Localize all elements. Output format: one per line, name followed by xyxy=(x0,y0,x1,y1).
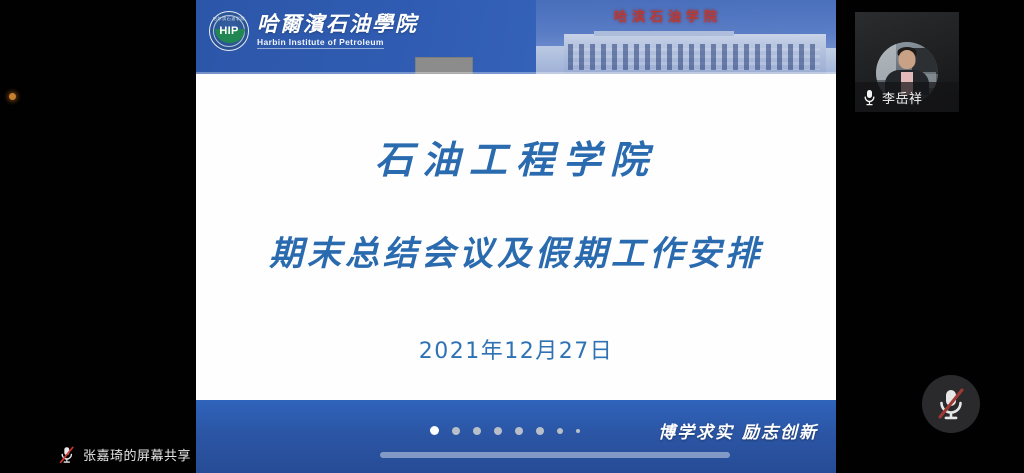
institution-logo: 哈尔滨石油学院 HIP 哈爾濱石油學院 Harbin Institute of … xyxy=(209,11,418,51)
mic-muted-icon xyxy=(936,387,966,421)
screen-share-label: 张嘉琦的屏幕共享 xyxy=(83,445,191,464)
slide-dot-5 xyxy=(515,427,523,435)
participant-nameplate: 李岳祥 xyxy=(855,82,959,112)
slide-dot-3 xyxy=(473,427,481,435)
shared-slide[interactable]: 哈滨石油学院 哈尔滨石油学院 HIP 哈爾濱石油學院 Harbin Instit… xyxy=(196,0,836,473)
meeting-screen-share-view: 哈滨石油学院 哈尔滨石油学院 HIP 哈爾濱石油學院 Harbin Instit… xyxy=(0,0,1024,473)
mic-icon xyxy=(863,89,876,106)
slide-dot-6 xyxy=(536,427,544,435)
screen-share-indicator[interactable]: 张嘉琦的屏幕共享 xyxy=(59,445,191,464)
slide-motto: 博学求实 励志创新 xyxy=(658,418,818,443)
mic-muted-icon xyxy=(59,446,75,464)
slide-dot-8 xyxy=(576,429,580,433)
slide-dot-4 xyxy=(494,427,502,435)
mute-toggle-button[interactable] xyxy=(922,375,980,433)
campus-building-photo: 哈滨石油学院 xyxy=(536,0,836,74)
slide-dot-7 xyxy=(557,428,563,434)
slide-dot-1 xyxy=(430,426,439,435)
ambient-status-dot xyxy=(9,93,16,100)
slide-body: 石油工程学院 期末总结会议及假期工作安排 2021年12月27日 xyxy=(196,74,836,400)
slide-header: 哈滨石油学院 哈尔滨石油学院 HIP 哈爾濱石油學院 Harbin Instit… xyxy=(196,0,836,74)
slide-date: 2021年12月27日 xyxy=(419,333,613,365)
institution-seal-icon: 哈尔滨石油学院 HIP xyxy=(209,11,249,51)
slide-subtitle: 期末总结会议及假期工作安排 xyxy=(269,226,763,275)
institution-name-en: Harbin Institute of Petroleum xyxy=(257,37,384,49)
slide-dot-2 xyxy=(452,427,460,435)
slide-placeholder-box xyxy=(415,57,473,74)
participant-video-tile[interactable]: 李岳祥 xyxy=(855,12,959,112)
institution-name-cn: 哈爾濱石油學院 xyxy=(257,13,418,35)
slide-title: 石油工程学院 xyxy=(375,129,657,184)
participant-name: 李岳祥 xyxy=(882,88,923,107)
building-roof-sign: 哈滨石油学院 xyxy=(614,6,722,25)
slide-progress-bar xyxy=(380,452,730,458)
seal-monogram: HIP xyxy=(219,25,238,37)
slide-footer: 博学求实 励志创新 xyxy=(196,400,836,473)
slide-dot-decoration xyxy=(430,426,580,435)
seal-arc-text: 哈尔滨石油学院 xyxy=(210,16,248,22)
